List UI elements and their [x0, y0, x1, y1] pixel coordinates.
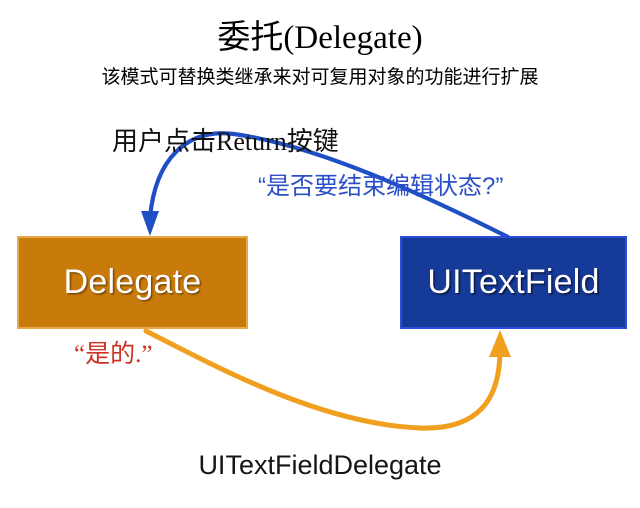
page-title: 委托(Delegate)	[0, 18, 640, 58]
question-annotation: “是否要结束编辑状态?”	[258, 172, 503, 202]
answer-annotation: “是的.”	[74, 340, 152, 370]
delegate-pattern-diagram: 委托(Delegate) 该模式可替换类继承来对可复用对象的功能进行扩展 用户点…	[0, 0, 640, 508]
node-delegate[interactable]: Delegate	[17, 236, 248, 329]
node-uitextfield[interactable]: UITextField	[400, 236, 627, 329]
answer-arrow	[146, 330, 511, 428]
user-action-annotation: 用户点击Return按键	[112, 126, 339, 158]
protocol-annotation: UITextFieldDelegate	[0, 448, 640, 482]
node-uitextfield-label: UITextField	[427, 263, 599, 302]
page-subtitle: 该模式可替换类继承来对可复用对象的功能进行扩展	[0, 66, 640, 90]
node-delegate-label: Delegate	[64, 263, 202, 302]
